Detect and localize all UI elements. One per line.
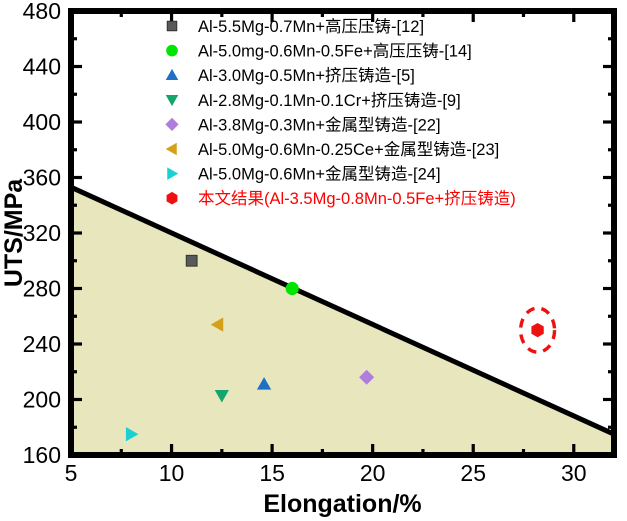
legend-item-3[interactable]: Al-3.0Mg-0.5Mn+挤压铸造-[5] <box>166 66 415 85</box>
x-tick-label: 20 <box>360 460 386 486</box>
legend-item-1[interactable]: Al-5.5Mg-0.7Mn+高压压铸-[12] <box>167 17 424 36</box>
y-tick-label: 160 <box>23 442 61 468</box>
legend-label-5: Al-3.8Mg-0.3Mn+金属型铸造-[22] <box>198 115 441 134</box>
legend-item-4[interactable]: Al-2.8Mg-0.1Mn-0.1Cr+挤压铸造-[9] <box>166 91 461 110</box>
y-tick-label: 280 <box>23 276 61 302</box>
legend-item-5[interactable]: Al-3.8Mg-0.3Mn+金属型铸造-[22] <box>165 115 440 134</box>
y-axis-title: UTS/MPa <box>0 178 28 287</box>
legend-item-6[interactable]: Al-5.0Mg-0.6Mn-0.25Ce+金属型铸造-[23] <box>166 140 500 159</box>
y-tick-label: 240 <box>23 331 61 357</box>
y-tick-label: 440 <box>23 54 61 80</box>
legend-marker-triangle-down-icon <box>166 95 179 106</box>
y-tick-label: 320 <box>23 220 61 246</box>
legend-marker-triangle-left-icon <box>166 143 177 156</box>
y-tick-label: 400 <box>23 109 61 135</box>
legend-marker-hexagon-icon <box>167 192 178 205</box>
data-point-marker-1 <box>186 255 197 266</box>
legend-marker-triangle-up-icon <box>166 69 179 80</box>
legend-label-6: Al-5.0Mg-0.6Mn-0.25Ce+金属型铸造-[23] <box>198 140 499 159</box>
data-point-marker-8 <box>531 323 543 337</box>
chart-figure: 51015202530160200240280320360400440480El… <box>0 0 627 521</box>
legend-label-4: Al-2.8Mg-0.1Mn-0.1Cr+挤压铸造-[9] <box>198 91 461 110</box>
legend-marker-diamond-icon <box>165 118 178 131</box>
legend-marker-circle-icon <box>166 45 178 57</box>
x-tick-label: 5 <box>65 460 78 486</box>
legend-label-1: Al-5.5Mg-0.7Mn+高压压铸-[12] <box>198 17 424 36</box>
legend-label-7: Al-5.0Mg-0.6Mn+金属型铸造-[24] <box>198 165 441 184</box>
x-tick-label: 25 <box>460 460 486 486</box>
chart-legend: Al-5.5Mg-0.7Mn+高压压铸-[12]Al-5.0mg-0.6Mn-0… <box>165 17 515 208</box>
x-axis-title: Elongation/% <box>263 490 421 518</box>
x-tick-label: 10 <box>159 460 185 486</box>
x-tick-label: 15 <box>259 460 285 486</box>
y-tick-label: 200 <box>23 387 61 413</box>
legend-label-2: Al-5.0mg-0.6Mn-0.5Fe+高压压铸-[14] <box>198 42 472 61</box>
legend-marker-triangle-right-icon <box>167 167 178 180</box>
legend-marker-square-icon <box>167 21 177 31</box>
y-tick-label: 360 <box>23 165 61 191</box>
legend-item-7[interactable]: Al-5.0Mg-0.6Mn+金属型铸造-[24] <box>167 165 440 184</box>
legend-item-2[interactable]: Al-5.0mg-0.6Mn-0.5Fe+高压压铸-[14] <box>166 42 472 61</box>
legend-item-8[interactable]: 本文结果(Al-3.5Mg-0.8Mn-0.5Fe+挤压铸造) <box>167 189 516 208</box>
legend-label-8: 本文结果(Al-3.5Mg-0.8Mn-0.5Fe+挤压铸造) <box>198 189 516 208</box>
y-tick-label: 480 <box>23 0 61 24</box>
shaded-performance-region <box>71 187 614 455</box>
scatter-chart: 51015202530160200240280320360400440480El… <box>0 0 627 521</box>
data-point-marker-2 <box>286 282 299 295</box>
x-tick-label: 30 <box>561 460 587 486</box>
legend-label-3: Al-3.0Mg-0.5Mn+挤压铸造-[5] <box>198 66 415 85</box>
